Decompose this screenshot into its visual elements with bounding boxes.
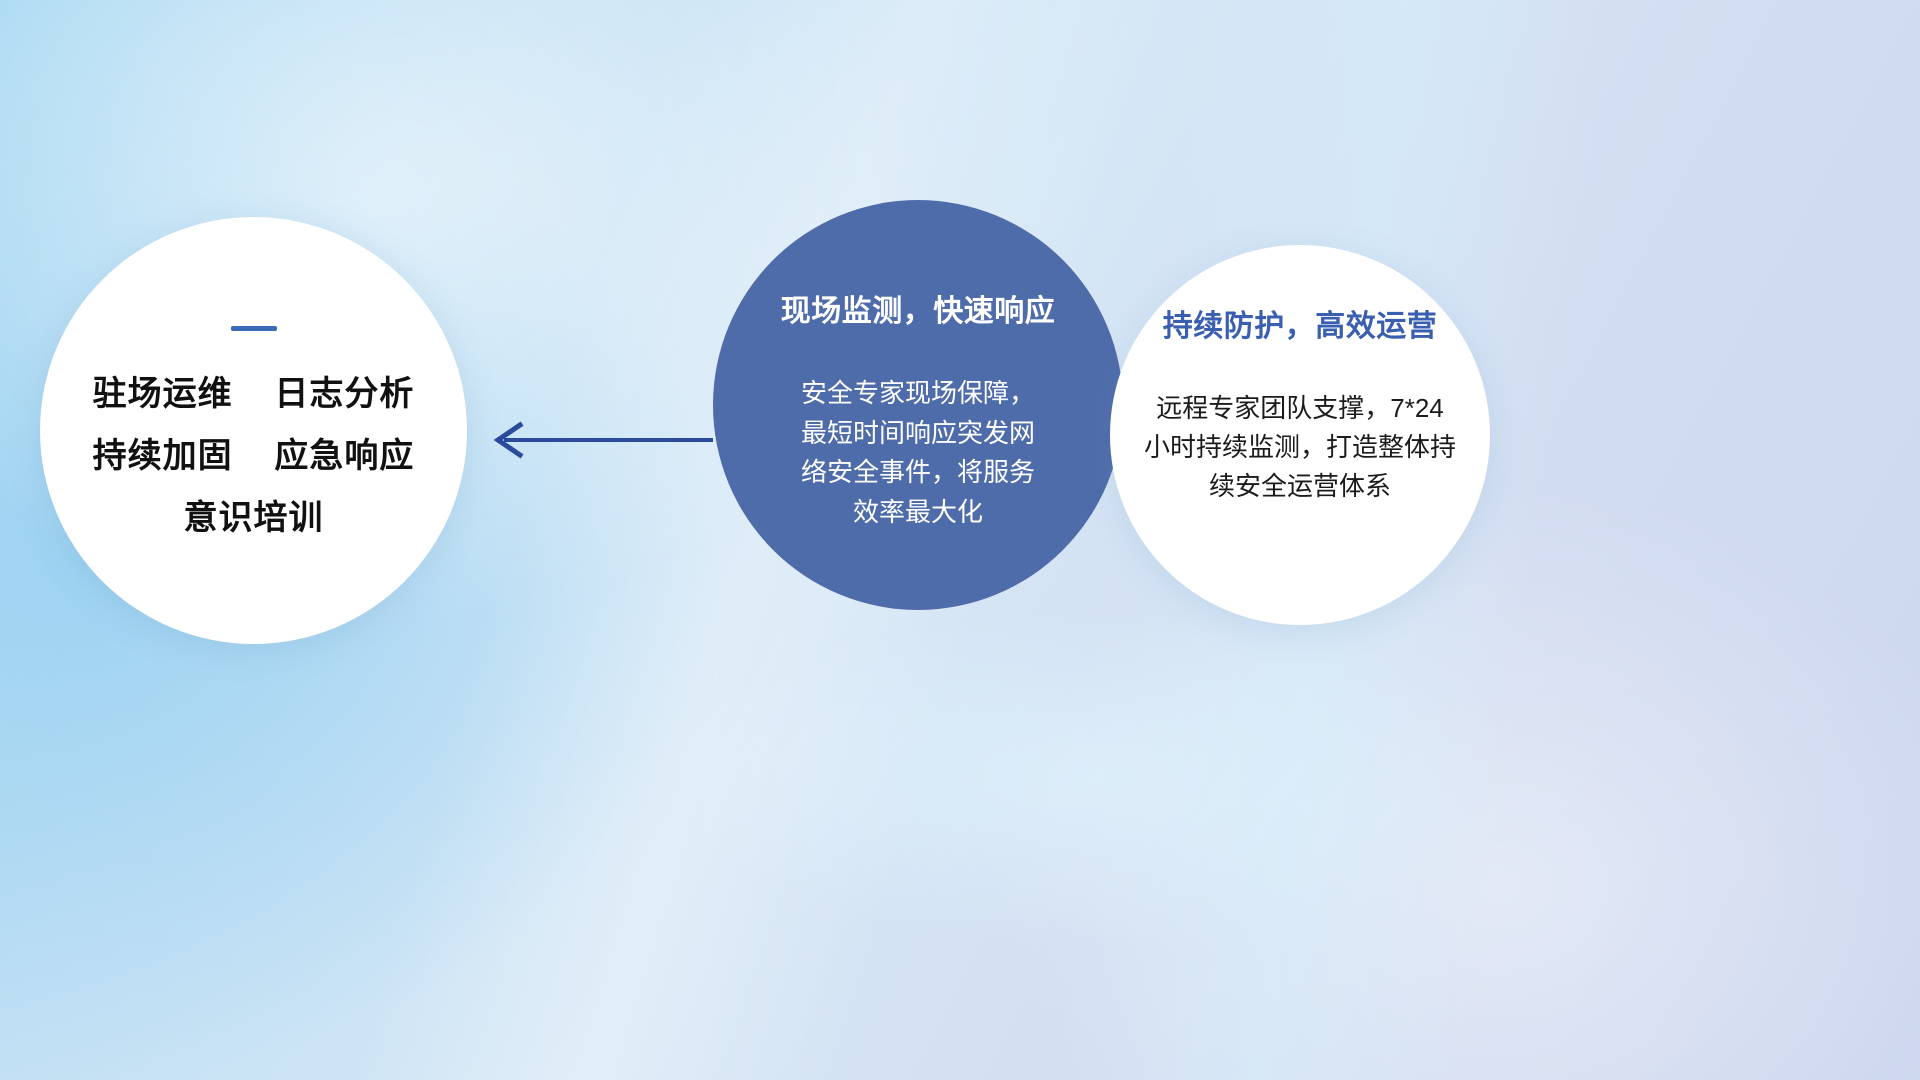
capability-line-2: 持续加固 应急响应 [93,439,415,473]
capabilities-circle: 驻场运维 日志分析 持续加固 应急响应 意识培训 [40,217,467,644]
capability-line-1: 驻场运维 日志分析 [93,377,415,411]
capability-line-3: 意识培训 [184,501,324,535]
continuous-protection-body: 远程专家团队支撑，7*24小时持续监测，打造整体持续安全运营体系 [1144,389,1456,506]
continuous-protection-circle: 持续防护，高效运营 远程专家团队支撑，7*24小时持续监测，打造整体持续安全运营… [1110,245,1490,625]
arrow-left-icon [488,415,713,465]
flow-arrow-left [488,415,713,465]
continuous-protection-title: 持续防护，高效运营 [1163,301,1438,345]
slide-canvas: 驻场运维 日志分析 持续加固 应急响应 意识培训 现场监测，快速响应 安全专家现… [0,0,1920,1080]
onsite-monitoring-title: 现场监测，快速响应 [781,286,1056,330]
onsite-monitoring-body: 安全专家现场保障，最短时间响应突发网络安全事件，将服务效率最大化 [790,374,1046,532]
divider-dash [231,326,277,331]
onsite-monitoring-circle: 现场监测，快速响应 安全专家现场保障，最短时间响应突发网络安全事件，将服务效率最… [713,200,1123,610]
